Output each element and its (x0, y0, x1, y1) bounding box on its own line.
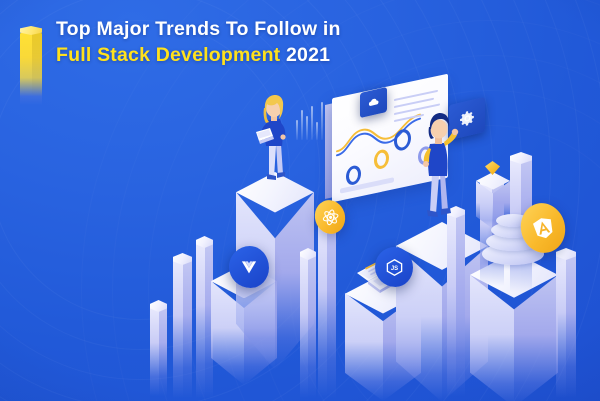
tower-col (447, 206, 465, 396)
headline-line-2: Full Stack Development 2021 (56, 42, 476, 69)
headline-year: 2021 (286, 44, 330, 66)
full-stack-trends-banner: Top Major Trends To Follow in Full Stack… (0, 0, 600, 401)
tower-col (173, 253, 192, 398)
svg-text:JS: JS (390, 266, 397, 272)
person-with-gear (410, 108, 466, 226)
tower-col (150, 300, 167, 396)
react-logo-coin (311, 197, 349, 238)
tower-col (556, 248, 576, 398)
donut-ring (374, 148, 389, 170)
headline-block: Top Major Trends To Follow in Full Stack… (56, 16, 476, 69)
person-with-laptop (250, 92, 296, 184)
yellow-3d-bar (20, 26, 42, 104)
headline-line-1: Top Major Trends To Follow in (56, 16, 476, 42)
nodejs-logo-badge: JS (375, 247, 413, 287)
donut-ring (346, 164, 361, 186)
headline-highlight: Full Stack Development (56, 44, 280, 66)
tower-col (300, 248, 316, 398)
tower-col (318, 210, 336, 398)
vue-logo-badge (229, 246, 269, 288)
